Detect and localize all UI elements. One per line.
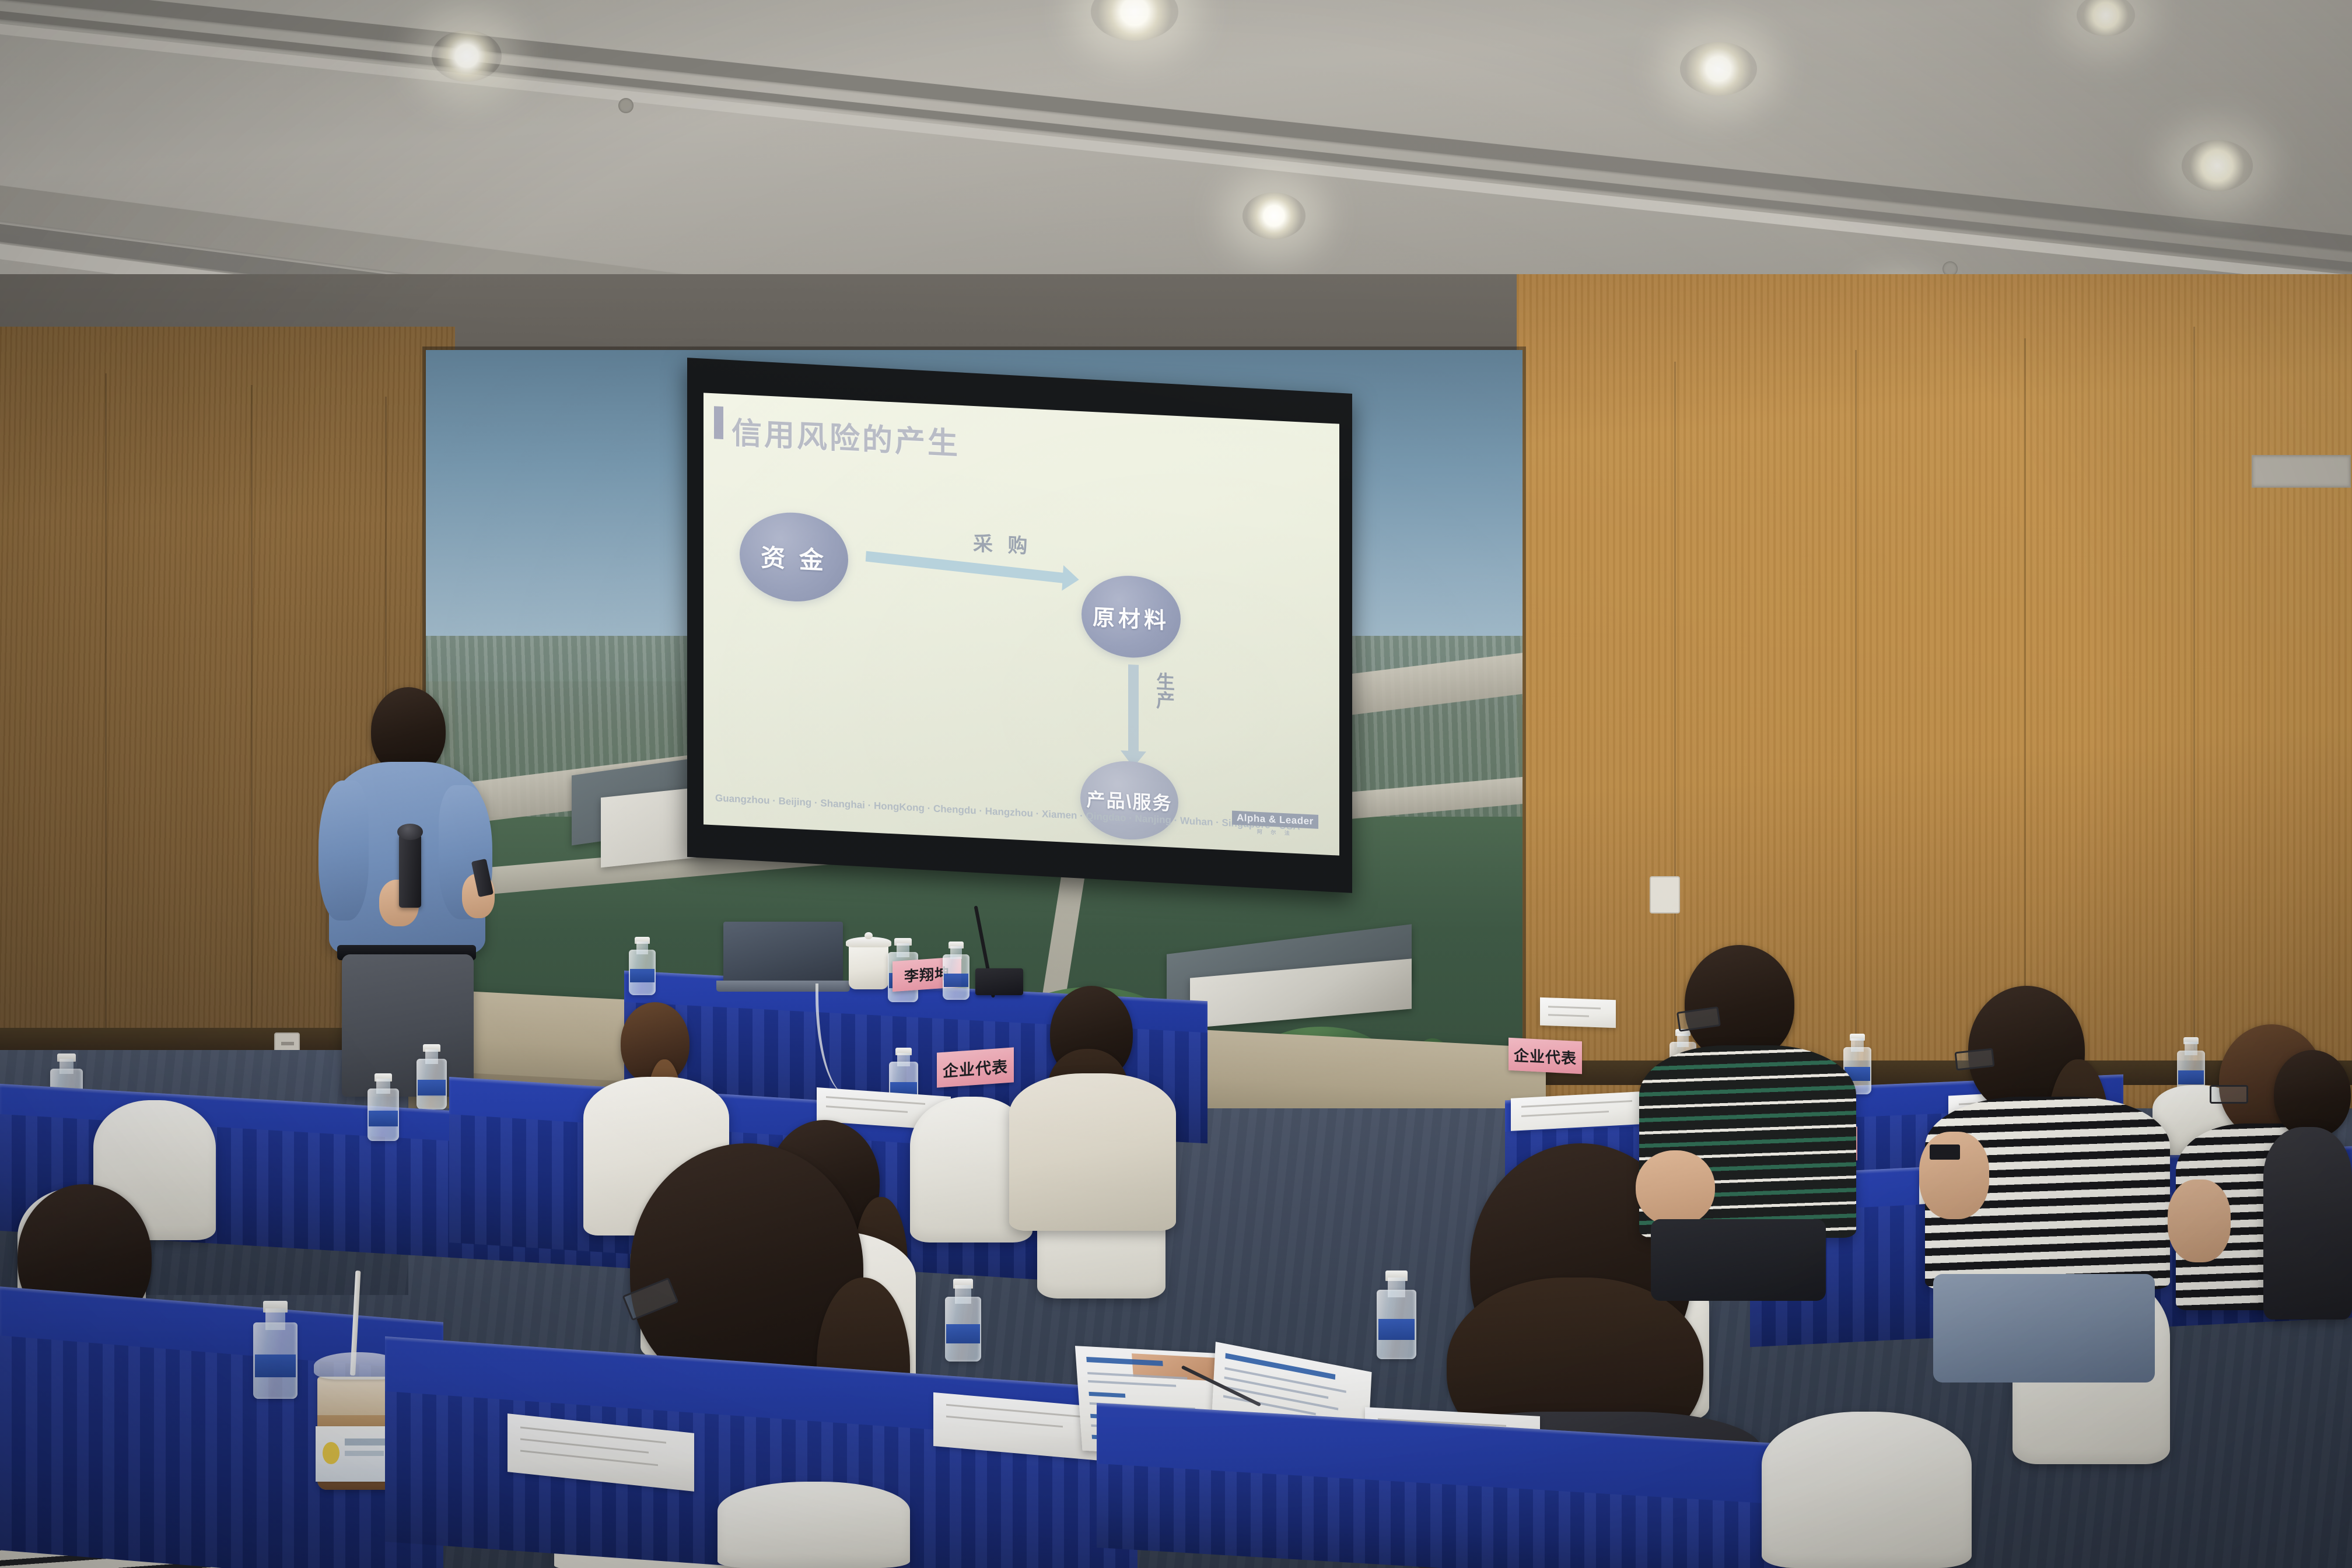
diagram-edge-label-purchase: 采 购 <box>973 527 1032 559</box>
slide-logo-subtitle: 阿 尔 法 <box>1257 828 1293 837</box>
slide-title-accent-bar <box>714 406 723 439</box>
water-bottle[interactable] <box>943 942 970 1000</box>
attendee-top <box>1009 1073 1176 1231</box>
eyeglasses[interactable] <box>2210 1085 2248 1104</box>
attendee-right-edge <box>2263 1050 2352 1318</box>
diagram-edge-label-production: 生产 <box>1153 671 1176 710</box>
wall-sign <box>1540 998 1616 1028</box>
attendee-head <box>1685 945 1794 1062</box>
slide-footer-city-list: Guangzhou · Beijing · Shanghai · HongKon… <box>715 792 1300 832</box>
diagram-node-funds: 资 金 <box>740 510 848 604</box>
eyeglasses[interactable] <box>1955 1048 1995 1071</box>
ceiling-downlight <box>432 30 502 82</box>
attendee-arm <box>1636 1150 1715 1226</box>
nameplate-delegate: 企业代表 <box>937 1047 1014 1087</box>
water-bottle[interactable] <box>416 1044 447 1109</box>
presenter-laptop[interactable] <box>723 922 843 992</box>
slide-credit-risk: 信用风险的产生 资 金 采 购 原材料 生产 产品\服务 Guangzhou ·… <box>703 393 1339 855</box>
light-switch[interactable] <box>1650 876 1680 914</box>
attendee-white-blouse-rear <box>1009 986 1178 1231</box>
presenter-left-arm <box>318 780 369 921</box>
diagram-node-raw-material: 原材料 <box>1081 573 1181 660</box>
ceiling-speaker-icon <box>618 98 633 113</box>
slide-logo-mark: Alpha & Leader <box>1232 811 1318 829</box>
ceiling-downlight <box>1091 0 1178 41</box>
attendee-trousers <box>1651 1219 1826 1301</box>
conference-room-photo: 信用风险的产生 资 金 采 购 原材料 生产 产品\服务 Guangzhou ·… <box>0 0 2352 1568</box>
teacup[interactable] <box>849 944 888 989</box>
diagram-arrow-purchase <box>866 551 1064 583</box>
wristwatch <box>1930 1144 1960 1160</box>
presenter <box>315 687 502 1095</box>
attendee-striped-tee-woman <box>1925 986 2176 1382</box>
projection-screen: 信用风险的产生 资 金 采 购 原材料 生产 产品\服务 Guangzhou ·… <box>703 393 1339 855</box>
nameplate-delegate: 企业代表 <box>1508 1038 1582 1074</box>
attendee-top <box>2263 1127 2352 1319</box>
attendee-jeans <box>1933 1274 2155 1382</box>
ceiling-downlight <box>2182 140 2253 191</box>
ceiling-downlight <box>2077 0 2135 36</box>
attendee-head <box>2274 1050 2351 1137</box>
water-bottle[interactable] <box>367 1073 399 1141</box>
attendee-arm <box>2168 1179 2231 1262</box>
ceiling-downlight <box>1680 42 1757 96</box>
diagram-node-product-service: 产品\服务 <box>1080 759 1178 842</box>
chair[interactable] <box>717 1482 910 1568</box>
water-bottle[interactable] <box>945 1279 981 1361</box>
slide-logo: Alpha & Leader 阿 尔 法 <box>1232 811 1318 838</box>
attendee-striped-polo-man <box>1639 945 1861 1272</box>
chair[interactable] <box>1762 1412 1972 1568</box>
water-bottle[interactable] <box>629 937 656 995</box>
ceiling-downlight <box>1242 192 1305 239</box>
water-bottle[interactable] <box>253 1301 297 1399</box>
water-bottle[interactable] <box>1377 1270 1416 1359</box>
presenter-trousers <box>342 954 474 1097</box>
wall-vent <box>2252 455 2351 488</box>
slide-title: 信用风险的产生 <box>731 408 960 463</box>
handheld-microphone[interactable] <box>399 834 421 908</box>
diagram-arrow-production <box>1128 664 1139 752</box>
